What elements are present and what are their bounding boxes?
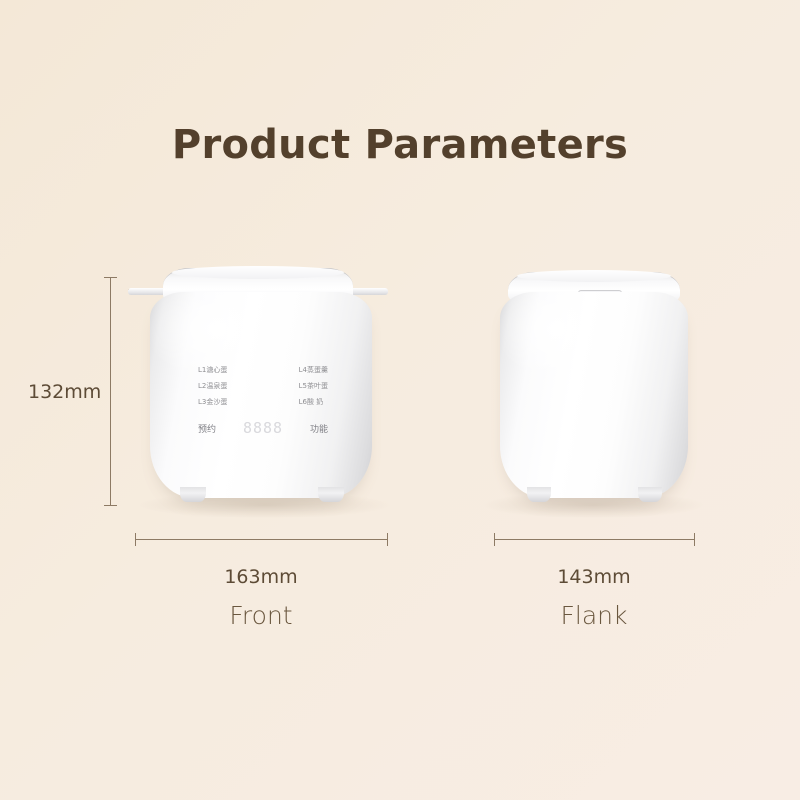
product-parameters-page: Product Parameters 132mm L1溏心蛋 L2温泉蛋 L3金… xyxy=(0,0,800,800)
mode-column-right: L4蒸蛋羹 L5茶叶蛋 L6酸 奶 xyxy=(299,366,328,406)
flank-width-dimension-label: 143mm xyxy=(494,566,694,588)
page-title: Product Parameters xyxy=(0,122,800,168)
flank-width-dimension-line xyxy=(494,539,694,540)
flank-body xyxy=(500,292,688,498)
mode-item-l1[interactable]: L1溏心蛋 xyxy=(198,366,227,374)
mode-item-l5[interactable]: L5茶叶蛋 xyxy=(299,382,328,390)
appointment-button[interactable]: 预约 xyxy=(198,422,216,435)
flank-width-cap-right xyxy=(694,533,695,546)
lcd-display: 8888 xyxy=(243,419,283,437)
height-dimension-cap-bottom xyxy=(104,505,117,506)
front-width-dimension-label: 163mm xyxy=(0,566,522,588)
mode-item-l2[interactable]: L2温泉蛋 xyxy=(198,382,227,390)
control-panel[interactable]: L1溏心蛋 L2温泉蛋 L3金沙蛋 L4蒸蛋羹 L5茶叶蛋 L6酸 奶 预约 8… xyxy=(198,366,328,437)
front-foot-right xyxy=(318,487,344,502)
front-foot-left xyxy=(180,487,206,502)
flank-foot-left xyxy=(527,487,551,502)
height-dimension-label: 132mm xyxy=(28,381,101,403)
control-panel-bottom-row: 预约 8888 功能 xyxy=(198,419,328,437)
front-width-dimension-line xyxy=(135,539,387,540)
flank-lid-sheen xyxy=(517,270,671,282)
front-width-cap-right xyxy=(387,533,388,546)
caption-flank: Flank xyxy=(494,601,694,630)
function-button[interactable]: 功能 xyxy=(310,422,328,435)
mode-item-l4[interactable]: L4蒸蛋羹 xyxy=(299,366,328,374)
caption-front: Front xyxy=(0,601,522,630)
mode-column-left: L1溏心蛋 L2温泉蛋 L3金沙蛋 xyxy=(198,366,227,406)
mode-item-l3[interactable]: L3金沙蛋 xyxy=(198,398,227,406)
mode-item-l6[interactable]: L6酸 奶 xyxy=(299,398,328,406)
height-dimension-line xyxy=(110,277,111,506)
front-lid-sheen xyxy=(172,266,344,279)
flank-foot-right xyxy=(638,487,662,502)
control-panel-modes: L1溏心蛋 L2温泉蛋 L3金沙蛋 L4蒸蛋羹 L5茶叶蛋 L6酸 奶 xyxy=(198,366,328,406)
